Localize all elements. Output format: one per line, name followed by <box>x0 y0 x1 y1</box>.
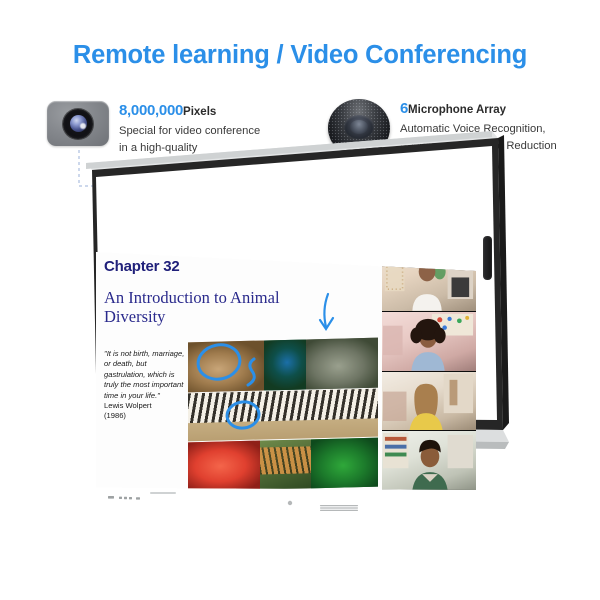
tile-person-4 <box>382 431 476 490</box>
video-tile-student-4[interactable] <box>382 431 476 490</box>
slide-title: An Introduction to Animal Diversity <box>104 288 304 326</box>
video-tile-student-2[interactable] <box>382 312 476 372</box>
zebra-herd-photo <box>188 389 378 442</box>
video-grid <box>382 252 476 490</box>
photo-row-1 <box>188 338 378 393</box>
slide-quote-text: "It is not birth, marriage, or death, bu… <box>104 349 184 400</box>
peacock-photo <box>264 339 306 390</box>
tree-frog-photo <box>311 438 378 489</box>
iguana-photo <box>306 338 378 390</box>
photo-row-2 <box>188 389 378 442</box>
slide-quote-attribution: Lewis Wolpert <box>104 401 186 411</box>
flamingo-photo <box>188 441 260 490</box>
tile-person-3 <box>382 372 476 431</box>
stylus-pen-icon <box>483 236 492 280</box>
slide-quote-year: (1986) <box>104 411 186 421</box>
tile-person-2 <box>382 312 476 371</box>
lesson-slide: Chapter 32 An Introduction to Animal Div… <box>96 252 382 490</box>
poster-root: Remote learning / Video Conferencing <box>0 0 600 600</box>
arrow-annotation-title <box>320 294 333 329</box>
animal-photo-grid <box>188 340 378 488</box>
screen-content: Chapter 32 An Introduction to Animal Div… <box>96 252 476 490</box>
slide-quote-block: "It is not birth, marriage, or death, bu… <box>104 349 186 422</box>
dinosaur-skull-photo <box>188 340 264 392</box>
tiger-photo <box>260 439 311 489</box>
photo-row-3 <box>188 438 378 490</box>
video-tile-student-3[interactable] <box>382 372 476 432</box>
